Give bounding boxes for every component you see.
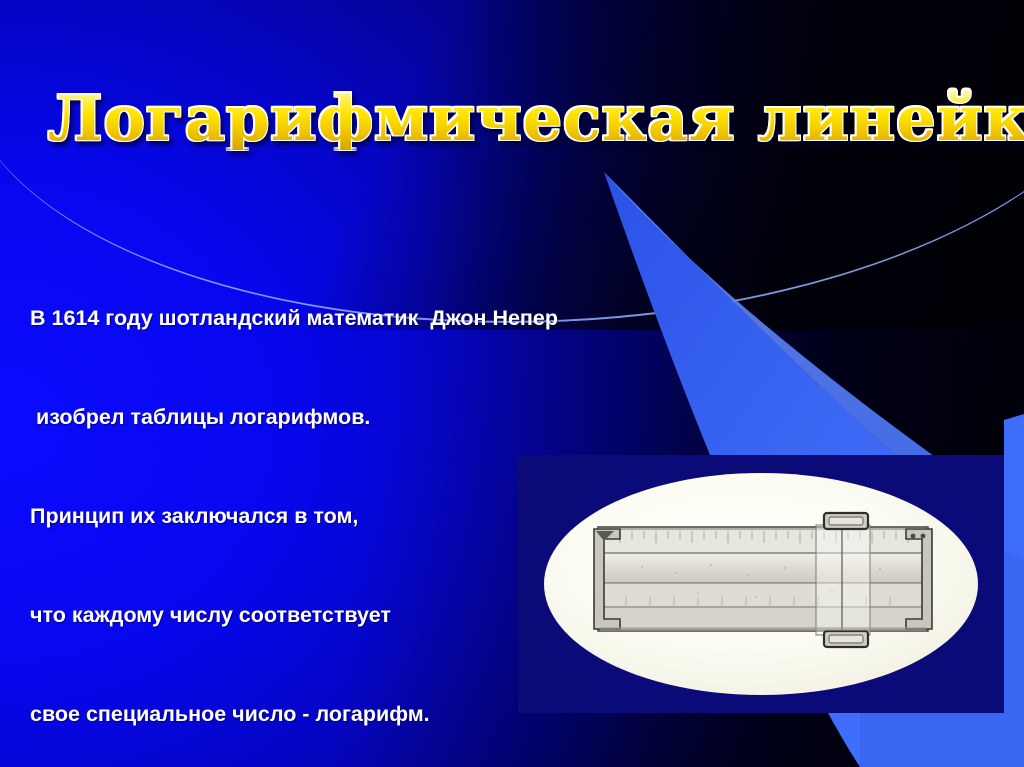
body-line: изобрел таблицы логарифмов. bbox=[30, 401, 650, 434]
slide-rule-photo bbox=[580, 507, 946, 655]
slide-rule-picture bbox=[518, 455, 1004, 713]
presentation-slide: Логарифмическая линейка В 1614 году шотл… bbox=[0, 0, 1024, 767]
slide-title: Логарифмическая линейка bbox=[48, 88, 1024, 150]
body-line: В 1614 году шотландский математик Джон Н… bbox=[30, 302, 650, 335]
